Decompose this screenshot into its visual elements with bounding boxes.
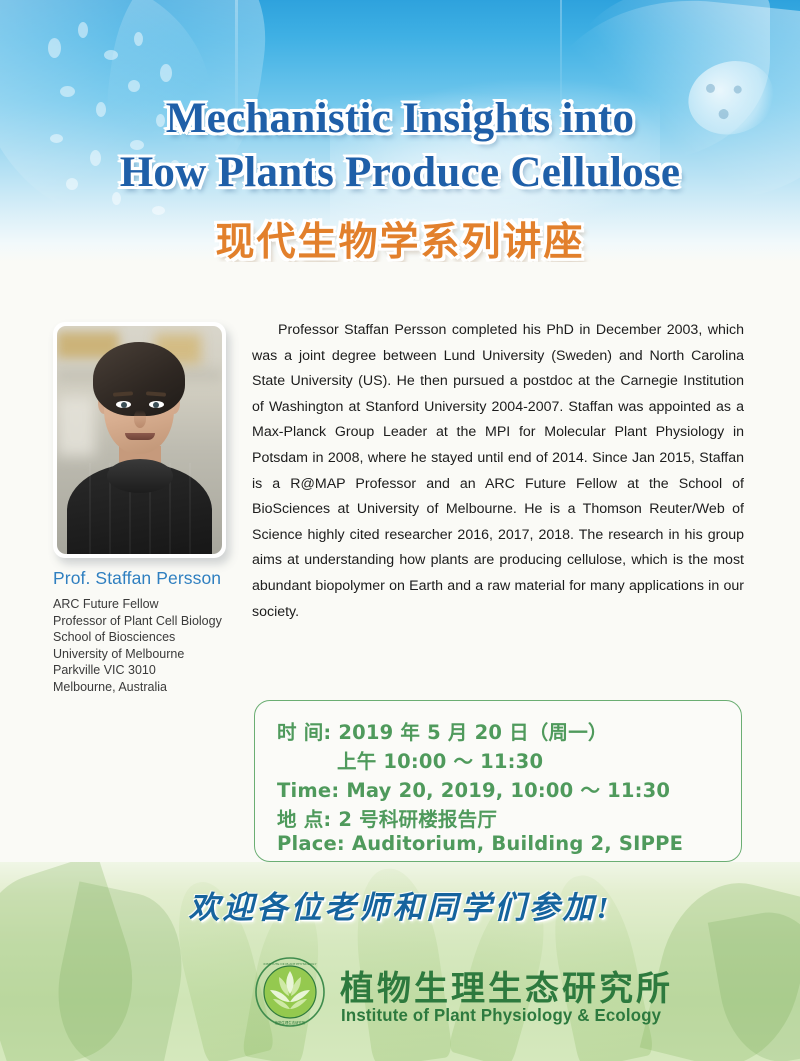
institute-name-english: Institute of Plant Physiology & Ecology	[341, 1005, 661, 1026]
speaker-bio: Professor Staffan Persson completed his …	[252, 318, 744, 625]
institute-logo-block: INSTITUTE OF PLANT PHYSIOLOGY 植物生理生态研究所 …	[255, 957, 655, 1047]
affiliation-line: Professor of Plant Cell Biology	[53, 613, 222, 630]
institute-name-chinese: 植物生理生态研究所	[340, 961, 673, 1010]
seminar-poster: Mechanistic Insights into How Plants Pro…	[0, 0, 800, 1061]
speaker-photo-frame	[53, 322, 226, 558]
event-time-chinese-hours: 上午 10:00 ～ 11:30	[337, 745, 543, 774]
poster-header: Mechanistic Insights into How Plants Pro…	[0, 0, 800, 262]
institute-emblem-icon: INSTITUTE OF PLANT PHYSIOLOGY 植物生理生态研究所	[255, 957, 325, 1027]
poster-subtitle-chinese: 现代生物学系列讲座	[0, 211, 800, 262]
poster-title-line-1: Mechanistic Insights into	[0, 92, 800, 146]
speaker-photo	[57, 326, 222, 554]
svg-text:植物生理生态研究所: 植物生理生态研究所	[275, 1020, 306, 1025]
poster-title-line-2: How Plants Produce Cellulose	[0, 146, 800, 200]
event-place-chinese: 地 点: 2 号科研楼报告厅	[277, 803, 497, 832]
speaker-bio-text: Professor Staffan Persson completed his …	[252, 322, 744, 620]
event-time-chinese: 时 间: 2019 年 5 月 20 日（周一）	[277, 716, 608, 745]
affiliation-line: ARC Future Fellow	[53, 596, 222, 613]
event-place-english: Place: Auditorium, Building 2, SIPPE	[277, 832, 683, 855]
welcome-message: 欢迎各位老师和同学们参加!	[0, 882, 800, 927]
speaker-affiliation: ARC Future Fellow Professor of Plant Cel…	[53, 596, 222, 696]
affiliation-line: Parkville VIC 3010	[53, 662, 222, 679]
affiliation-line: Melbourne, Australia	[53, 679, 222, 696]
svg-text:INSTITUTE OF PLANT PHYSIOLOGY: INSTITUTE OF PLANT PHYSIOLOGY	[263, 962, 316, 966]
event-details-box: 时 间: 2019 年 5 月 20 日（周一） 上午 10:00 ～ 11:3…	[254, 700, 742, 862]
affiliation-line: School of Biosciences	[53, 629, 222, 646]
poster-footer: 欢迎各位老师和同学们参加! INSTITUTE OF PLANT PHYSIOL…	[0, 862, 800, 1061]
speaker-name: Prof. Staffan Persson	[53, 568, 221, 589]
affiliation-line: University of Melbourne	[53, 646, 222, 663]
event-time-english: Time: May 20, 2019, 10:00 ～ 11:30	[277, 774, 670, 803]
